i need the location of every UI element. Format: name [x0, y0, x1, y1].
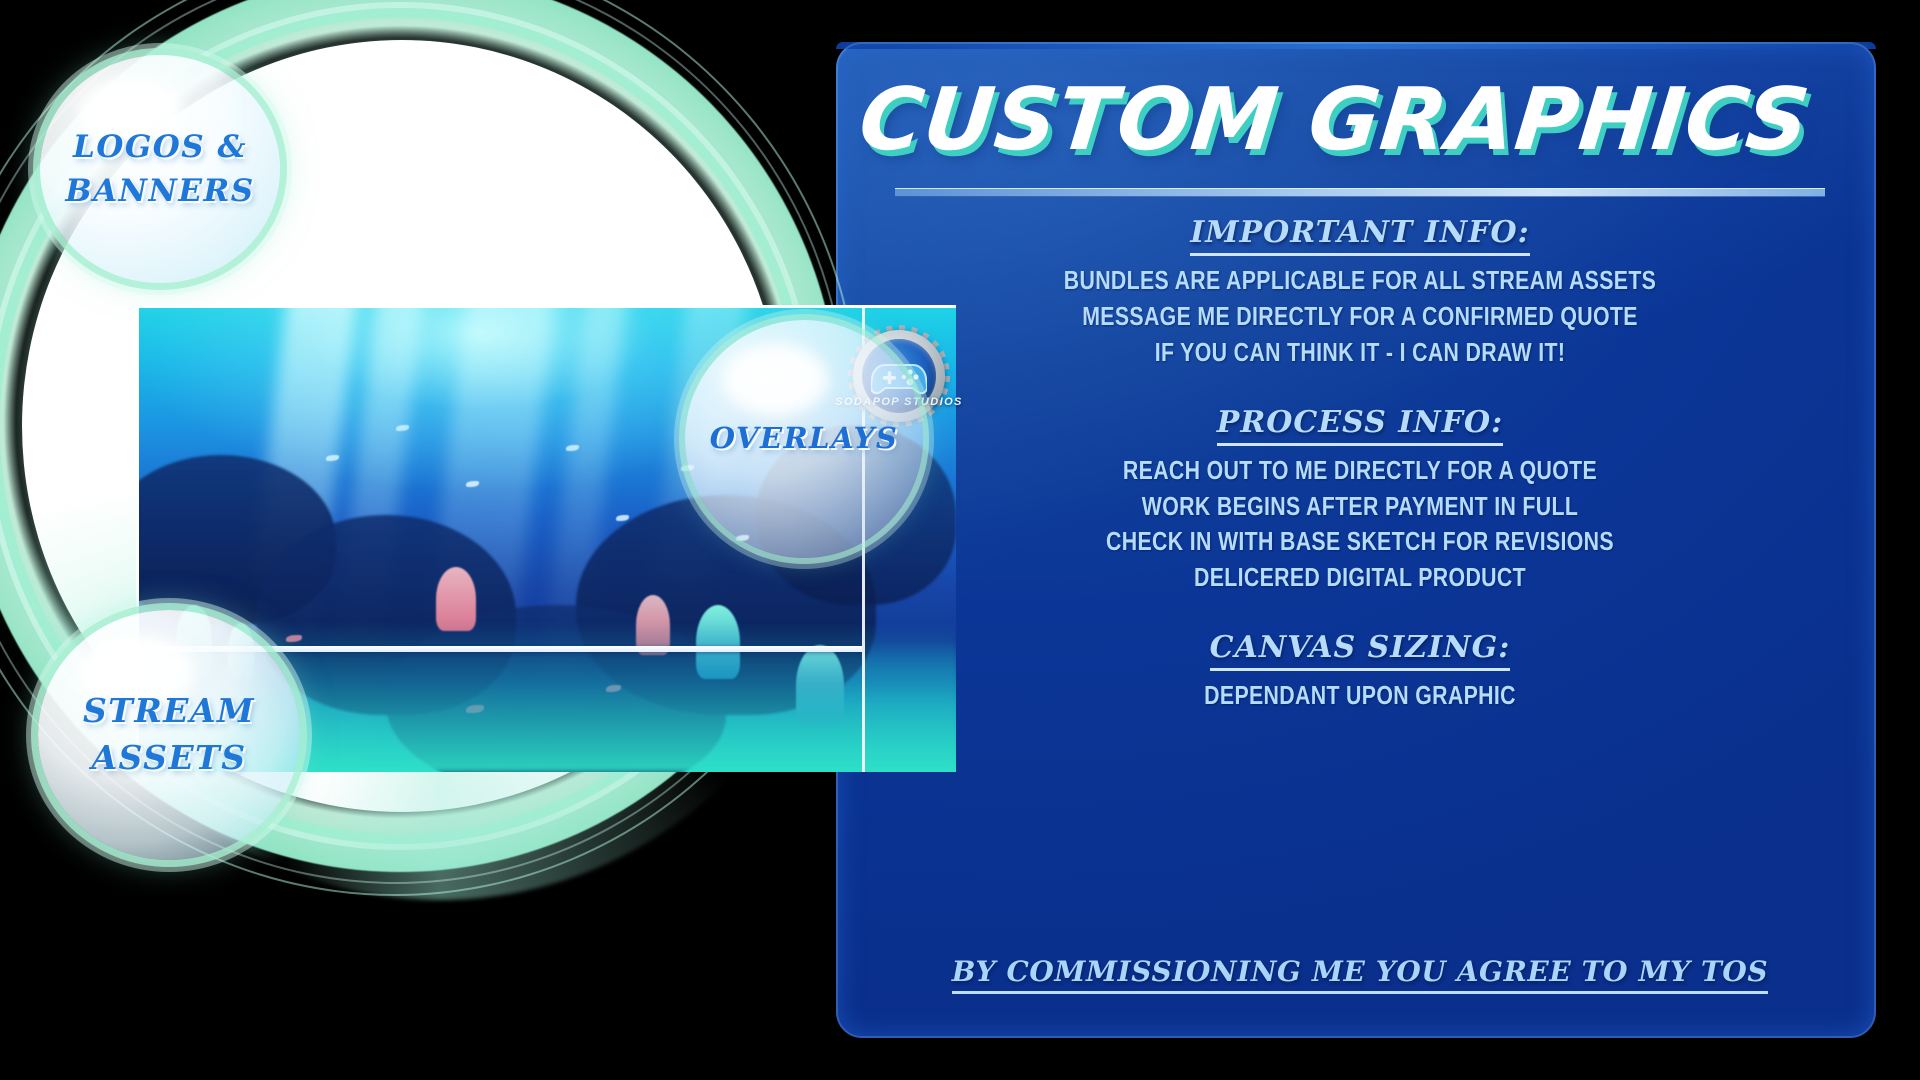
- section-line: REACH OUT TO ME DIRECTLY FOR A QUOTE: [966, 453, 1753, 489]
- section-heading: CANVAS SIZING:: [1210, 630, 1511, 671]
- section-line: IF YOU CAN THINK IT - I CAN DRAW IT!: [966, 335, 1753, 371]
- section-line: BUNDLES ARE APPLICABLE FOR ALL STREAM AS…: [966, 263, 1753, 299]
- bubble-logos-line2: BANNERS: [65, 169, 254, 213]
- bubble-logos-banners[interactable]: LOGOS & BANNERS: [40, 55, 280, 283]
- section-line: MESSAGE ME DIRECTLY FOR A CONFIRMED QUOT…: [966, 299, 1753, 335]
- page-title: CUSTOM GRAPHICS: [880, 60, 1840, 180]
- title-divider: [895, 188, 1825, 197]
- section-heading: IMPORTANT INFO:: [1190, 215, 1529, 256]
- info-sections: IMPORTANT INFO: BUNDLES ARE APPLICABLE F…: [880, 215, 1840, 714]
- bubble-overlays[interactable]: OVERLAYS: [685, 320, 923, 558]
- bubble-overlays-line1: OVERLAYS: [710, 418, 899, 459]
- section-heading: PROCESS INFO:: [1217, 405, 1503, 446]
- tos-text: BY COMMISSIONING ME YOU AGREE TO MY TOS: [952, 955, 1768, 994]
- poster-canvas: CUSTOM GRAPHICS IMPORTANT INFO: BUNDLES …: [0, 0, 1920, 1080]
- section-process-info: PROCESS INFO: REACH OUT TO ME DIRECTLY F…: [880, 405, 1840, 597]
- bubble-stream-assets[interactable]: STREAM ASSETS: [38, 610, 300, 860]
- panel-top-stripe: [836, 42, 1876, 49]
- section-canvas-sizing: CANVAS SIZING: DEPENDANT UPON GRAPHIC: [880, 630, 1840, 714]
- bubble-stream-line2: ASSETS: [91, 735, 246, 782]
- tos-notice: BY COMMISSIONING ME YOU AGREE TO MY TOS: [880, 955, 1840, 994]
- bubble-stream-line1: STREAM: [83, 688, 255, 735]
- section-line: CHECK IN WITH BASE SKETCH FOR REVISIONS: [966, 524, 1753, 560]
- page-title-text: CUSTOM GRAPHICS: [855, 70, 1815, 170]
- section-line: WORK BEGINS AFTER PAYMENT IN FULL: [966, 489, 1753, 525]
- section-line: DEPENDANT UPON GRAPHIC: [966, 678, 1753, 714]
- bubble-logos-line1: LOGOS &: [73, 125, 247, 169]
- section-important-info: IMPORTANT INFO: BUNDLES ARE APPLICABLE F…: [880, 215, 1840, 371]
- section-line: DELICERED DIGITAL PRODUCT: [966, 560, 1753, 596]
